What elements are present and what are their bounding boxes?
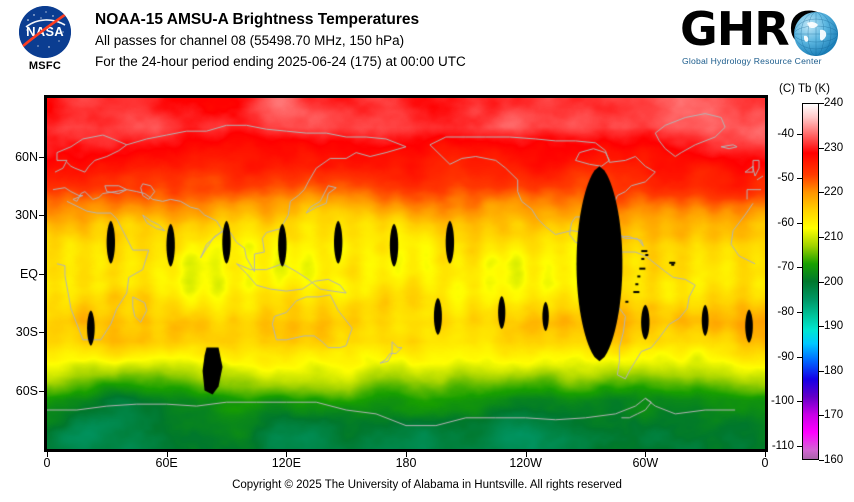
latitude-label-60s: 60S <box>0 384 38 398</box>
colorbar-celsius-tick <box>797 357 802 358</box>
longitude-tick <box>406 452 407 457</box>
nasa-logo: NASA MSFC <box>10 6 80 84</box>
colorbar-kelvin-label: 190 <box>824 320 854 332</box>
colorbar-kelvin-tick <box>819 148 824 149</box>
colorbar-kelvin-tick <box>819 103 824 104</box>
longitude-label-0: 0 <box>17 456 77 470</box>
colorbar-celsius-tick <box>797 134 802 135</box>
colorbar-kelvin-tick <box>819 460 824 461</box>
colorbar-celsius-label: -60 <box>764 217 794 229</box>
latitude-tick <box>39 332 44 333</box>
page-subtitle-channel: All passes for channel 08 (55498.70 MHz,… <box>95 30 466 51</box>
longitude-tick <box>47 452 48 457</box>
ghrc-logo: GHRC Global Hydrology Resource Center <box>680 4 840 76</box>
latitude-tick <box>39 157 44 158</box>
colorbar-celsius-tick <box>797 312 802 313</box>
page-title: NOAA-15 AMSU-A Brightness Temperatures <box>95 10 466 30</box>
colorbar-celsius-tick <box>797 267 802 268</box>
latitude-tick <box>39 215 44 216</box>
colorbar-kelvin-label: 160 <box>824 454 854 466</box>
colorbar-kelvin-tick <box>819 282 824 283</box>
longitude-tick <box>645 452 646 457</box>
copyright-notice: Copyright © 2025 The University of Alaba… <box>0 479 854 491</box>
latitude-tick <box>39 391 44 392</box>
longitude-tick <box>286 452 287 457</box>
longitude-label-2: 120E <box>256 456 316 470</box>
colorbar-celsius-label: -90 <box>764 351 794 363</box>
longitude-tick <box>526 452 527 457</box>
longitude-label-3: 180 <box>376 456 436 470</box>
latitude-label-eq: EQ <box>0 267 38 281</box>
global-map[interactable] <box>44 95 768 452</box>
colorbar-celsius-label: -50 <box>764 172 794 184</box>
colorbar-kelvin-tick <box>819 371 824 372</box>
colorbar-kelvin-label: 230 <box>824 142 854 154</box>
colorbar-celsius-tick <box>797 401 802 402</box>
colorbar-celsius-label: -100 <box>764 395 794 407</box>
page-subtitle-period: For the 24-hour period ending 2025-06-24… <box>95 51 466 72</box>
colorbar-kelvin-tick <box>819 415 824 416</box>
latitude-tick <box>39 274 44 275</box>
longitude-label-5: 60W <box>615 456 675 470</box>
longitude-tick <box>167 452 168 457</box>
colorbar-kelvin-label: 220 <box>824 186 854 198</box>
colorbar-kelvin-label: 210 <box>824 231 854 243</box>
longitude-label-1: 60E <box>137 456 197 470</box>
latitude-label-30n: 30N <box>0 208 38 222</box>
colorbar-celsius-label: -80 <box>764 306 794 318</box>
colorbar-celsius-label: -40 <box>764 128 794 140</box>
ghrc-logo-subtitle: Global Hydrology Resource Center <box>682 56 822 66</box>
nasa-meatball-icon: NASA <box>19 6 71 58</box>
colorbar-kelvin-tick <box>819 237 824 238</box>
longitude-tick <box>765 452 766 457</box>
colorbar <box>802 103 819 460</box>
colorbar-celsius-label: -70 <box>764 261 794 273</box>
nasa-center-label: MSFC <box>10 60 80 72</box>
visualization-page: NASA MSFC NOAA-15 AMSU-A Brightness Temp… <box>0 0 854 502</box>
colorbar-kelvin-tick <box>819 326 824 327</box>
colorbar-kelvin-tick <box>819 192 824 193</box>
latitude-label-30s: 30S <box>0 325 38 339</box>
colorbar-celsius-tick <box>797 446 802 447</box>
colorbar-kelvin-label: 240 <box>824 97 854 109</box>
colorbar-header: (C) Tb (K) <box>779 83 830 95</box>
latitude-label-60n: 60N <box>0 150 38 164</box>
longitude-label-4: 120W <box>496 456 556 470</box>
title-block: NOAA-15 AMSU-A Brightness Temperatures A… <box>95 10 466 72</box>
longitude-label-6: 0 <box>735 456 795 470</box>
colorbar-celsius-label: -110 <box>764 440 794 452</box>
colorbar-celsius-tick <box>797 178 802 179</box>
svg-text:NASA: NASA <box>26 24 64 39</box>
colorbar-kelvin-label: 170 <box>824 409 854 421</box>
brightness-temperature-heatmap <box>47 98 765 449</box>
colorbar-kelvin-label: 180 <box>824 365 854 377</box>
colorbar-celsius-tick <box>797 223 802 224</box>
colorbar-kelvin-label: 200 <box>824 276 854 288</box>
globe-icon <box>794 12 838 56</box>
